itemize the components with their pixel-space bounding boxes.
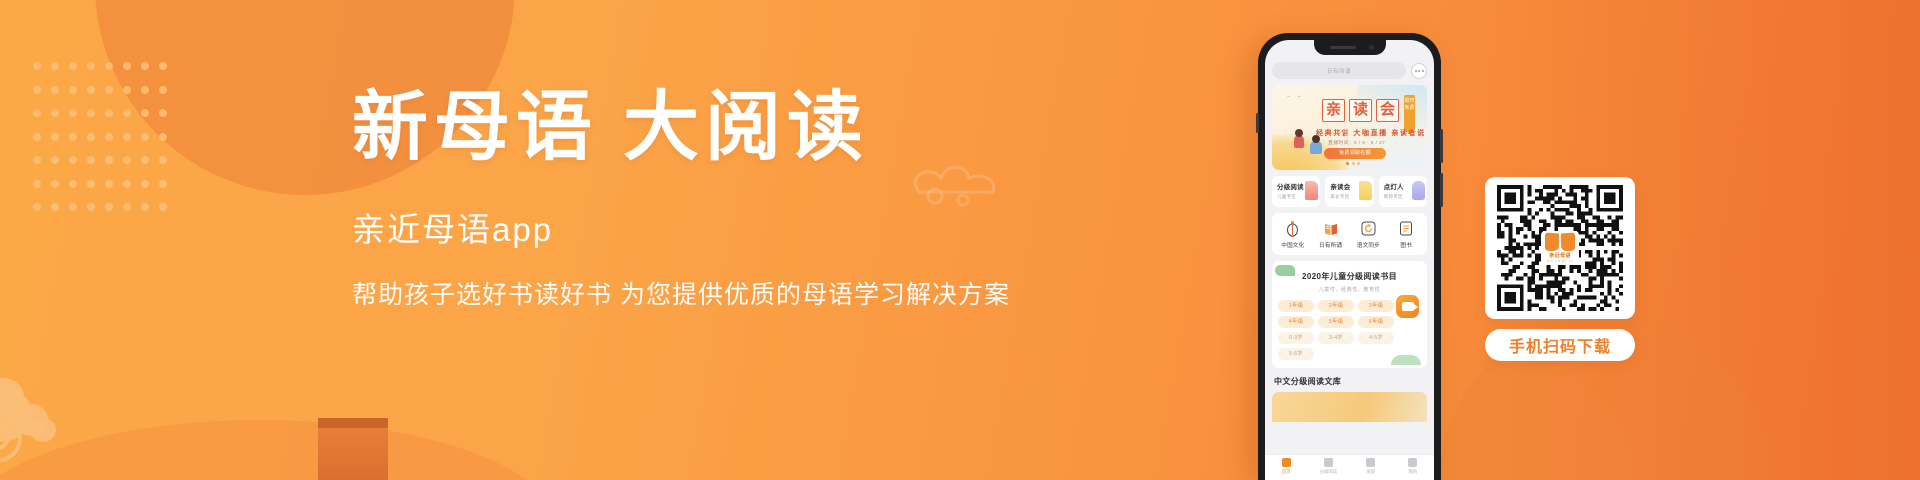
promo-flag: 限时免费	[1404, 95, 1415, 129]
decor-dot	[51, 109, 59, 117]
decor-dot	[159, 86, 167, 94]
book-open-icon	[1312, 220, 1350, 237]
decor-dot	[51, 62, 59, 70]
decor-dot	[123, 156, 131, 164]
library-card[interactable]	[1272, 392, 1427, 422]
decor-dot	[159, 109, 167, 117]
banner-subtitle: 亲近母语app	[352, 210, 1052, 250]
decor-dot	[159, 62, 167, 70]
quick-link-label: 日有所诵	[1312, 241, 1350, 249]
logo-pinyin: QIN JIN MU YU	[1547, 260, 1573, 263]
speaker-icon	[1330, 46, 1356, 49]
decor-dot	[51, 86, 59, 94]
decor-dot	[159, 203, 167, 211]
grade-chip[interactable]: 2年级	[1318, 300, 1354, 312]
booklist-title: 2020年儿童分级阅读书目	[1278, 271, 1421, 282]
decor-dot	[87, 109, 95, 117]
grade-chip[interactable]: 1年级	[1278, 300, 1314, 312]
decor-dot	[141, 109, 149, 117]
promo-birds-icon: ⌃ ⌃	[1286, 95, 1304, 102]
promo-banner: 新母语 大阅读 亲近母语app 帮助孩子选好书读好书 为您提供优质的母语学习解决…	[0, 0, 1920, 480]
decor-dot	[33, 86, 41, 94]
tab-icon	[1282, 458, 1291, 467]
decor-hill-bottom-left	[0, 420, 560, 480]
decor-dot	[105, 203, 113, 211]
decor-dot	[51, 180, 59, 188]
quick-link-textbook-sync[interactable]: 语文同步	[1350, 220, 1388, 249]
leaf-decor-icon	[1275, 265, 1295, 276]
booklist-card: 2020年儿童分级阅读书目 儿童性、经典性、教育性 1年级2年级3年级4年级5年…	[1272, 261, 1427, 368]
decor-dot	[69, 203, 77, 211]
decor-dot	[159, 156, 167, 164]
decor-dot-grid	[33, 62, 173, 212]
open-book-logo-icon	[1545, 233, 1575, 251]
scan-download-button[interactable]: 手机扫码下载	[1485, 329, 1635, 361]
quick-link-label: 图书	[1387, 241, 1425, 249]
decor-dot	[159, 180, 167, 188]
decor-dot	[51, 133, 59, 141]
tab-item[interactable]: 我的	[1392, 455, 1434, 480]
decor-dot	[141, 180, 149, 188]
decor-dot	[105, 133, 113, 141]
grade-chip[interactable]: 5年级	[1318, 316, 1354, 328]
category-card-graded-reading[interactable]: 分级阅读 儿童专区	[1272, 176, 1320, 207]
promo-title-char: 亲	[1322, 99, 1345, 122]
decor-dot	[141, 203, 149, 211]
grade-chip[interactable]: 4年级	[1278, 316, 1314, 328]
tab-label: 我的	[1392, 469, 1434, 475]
promo-child-2	[1310, 141, 1322, 154]
video-play-icon[interactable]	[1396, 295, 1419, 318]
decor-dot	[69, 62, 77, 70]
tab-icon	[1324, 458, 1333, 467]
age-chip[interactable]: 5-6岁	[1278, 348, 1314, 360]
decor-dot	[33, 156, 41, 164]
promo-title-char: 会	[1376, 99, 1399, 122]
decor-dot	[33, 133, 41, 141]
phone-volume-down-button	[1440, 173, 1443, 207]
category-card-teacher[interactable]: 点灯人 教师专区	[1379, 176, 1427, 207]
tab-icon	[1366, 458, 1375, 467]
phone-volume-up-button	[1440, 129, 1443, 163]
tab-label: 发现	[1350, 469, 1392, 475]
promo-subtitle: 经典共읽 大咖直播 亲读者说	[1316, 128, 1426, 138]
decor-dot	[141, 133, 149, 141]
promo-title: 亲 读 会	[1322, 99, 1399, 122]
person-thumb-icon	[1412, 181, 1425, 200]
qr-center-logo: 亲近母语 QIN JIN MU YU	[1541, 231, 1579, 265]
leaf-decor-icon	[1391, 355, 1421, 365]
decor-dot	[33, 203, 41, 211]
tab-label: 首页	[1265, 469, 1307, 475]
tab-active[interactable]: 首页	[1265, 455, 1307, 480]
decor-dot	[87, 203, 95, 211]
decor-dot	[123, 62, 131, 70]
decor-dot	[141, 86, 149, 94]
grade-chip[interactable]: 6年级	[1358, 316, 1394, 328]
decor-cloud-bottom-left	[0, 378, 90, 478]
age-chip[interactable]: 0-3岁	[1278, 332, 1314, 344]
lantern-icon	[1274, 220, 1312, 237]
carousel-dots[interactable]	[1346, 162, 1360, 165]
book-icon	[1387, 220, 1425, 237]
decor-dot	[141, 156, 149, 164]
decor-dot	[159, 133, 167, 141]
decor-dot	[123, 180, 131, 188]
ellipsis-icon[interactable]	[1411, 63, 1427, 79]
decor-dot	[87, 180, 95, 188]
category-cards: 分级阅读 儿童专区 亲读会 家长专区 点灯人 教师专区	[1272, 176, 1427, 207]
decor-dot	[123, 133, 131, 141]
decor-dot	[105, 156, 113, 164]
book-thumb-icon	[1305, 181, 1318, 200]
decor-dot	[123, 203, 131, 211]
bottom-tab-bar: 首页分级阅读发现我的	[1265, 454, 1434, 480]
quick-link-daily-recite[interactable]: 日有所诵	[1312, 220, 1350, 249]
quick-links: 中国文化 日有所诵	[1272, 213, 1427, 255]
age-chip[interactable]: 4-5岁	[1358, 332, 1394, 344]
library-title: 中文分级阅读文库	[1274, 376, 1434, 387]
decor-dot	[123, 109, 131, 117]
decor-dot	[69, 86, 77, 94]
decor-dot	[69, 156, 77, 164]
quick-link-books[interactable]: 图书	[1387, 220, 1425, 249]
decor-dot	[51, 203, 59, 211]
phone-notch	[1314, 40, 1386, 55]
phone-mockup: 日有所诵 ⌃ ⌃ 亲 读 会 限时免费 经典共읽 大咖直播 亲读者说 直播时间：…	[1258, 33, 1441, 480]
decor-dot	[105, 62, 113, 70]
promo-child-1	[1294, 135, 1304, 148]
decor-box-bottom-center	[318, 418, 388, 480]
decor-dot	[87, 156, 95, 164]
grade-chip[interactable]: 3年级	[1358, 300, 1394, 312]
quick-link-label: 中国文化	[1274, 241, 1312, 249]
book-thumb-icon	[1359, 181, 1372, 200]
tab-item[interactable]: 分级阅读	[1307, 455, 1349, 480]
decor-dot	[105, 180, 113, 188]
decor-dot	[105, 86, 113, 94]
banner-copy: 新母语 大阅读 亲近母语app 帮助孩子选好书读好书 为您提供优质的母语学习解决…	[352, 86, 1052, 312]
search-placeholder: 日有所诵	[1327, 67, 1351, 75]
decor-dot	[141, 62, 149, 70]
age-chip[interactable]: 3-4岁	[1318, 332, 1354, 344]
promo-card[interactable]: ⌃ ⌃ 亲 读 会 限时免费 经典共읽 大咖直播 亲读者说 直播时间：5 / 6…	[1272, 85, 1427, 170]
decor-dot	[69, 109, 77, 117]
phone-mute-switch	[1256, 113, 1259, 133]
decor-dot	[87, 62, 95, 70]
decor-dot	[69, 133, 77, 141]
decor-dot	[33, 109, 41, 117]
qr-download-block: 亲近母语 QIN JIN MU YU 手机扫码下载	[1485, 177, 1635, 361]
page-title: 新母语 大阅读	[352, 86, 1052, 170]
quick-link-label: 语文同步	[1350, 241, 1388, 249]
promo-cta-button[interactable]: 免费领取名额	[1324, 148, 1386, 159]
front-camera-icon	[1369, 45, 1374, 50]
app-search-row: 日有所诵	[1265, 62, 1434, 79]
quick-link-chinese-culture[interactable]: 中国文化	[1274, 220, 1312, 249]
tab-icon	[1408, 458, 1417, 467]
refresh-icon	[1350, 220, 1388, 237]
decor-dot	[87, 133, 95, 141]
decor-dot	[33, 62, 41, 70]
decor-dot	[69, 180, 77, 188]
tab-item[interactable]: 发现	[1350, 455, 1392, 480]
category-card-parent-club[interactable]: 亲读会 家长专区	[1325, 176, 1373, 207]
qr-card: 亲近母语 QIN JIN MU YU	[1485, 177, 1635, 319]
decor-dot	[33, 180, 41, 188]
logo-text: 亲近母语	[1549, 252, 1571, 259]
decor-dot	[123, 86, 131, 94]
decor-dot	[51, 156, 59, 164]
decor-dot	[105, 109, 113, 117]
decor-dot	[87, 86, 95, 94]
promo-title-char: 读	[1349, 99, 1372, 122]
tab-label: 分级阅读	[1307, 469, 1349, 475]
booklist-subtitle: 儿童性、经典性、教育性	[1278, 286, 1421, 293]
promo-date: 直播时间：5 / 6 - 5 / 27	[1328, 139, 1385, 146]
banner-tagline: 帮助孩子选好书读好书 为您提供优质的母语学习解决方案	[352, 278, 1052, 312]
phone-screen: 日有所诵 ⌃ ⌃ 亲 读 会 限时免费 经典共읽 大咖直播 亲读者说 直播时间：…	[1265, 40, 1434, 480]
search-input[interactable]: 日有所诵	[1272, 62, 1406, 79]
